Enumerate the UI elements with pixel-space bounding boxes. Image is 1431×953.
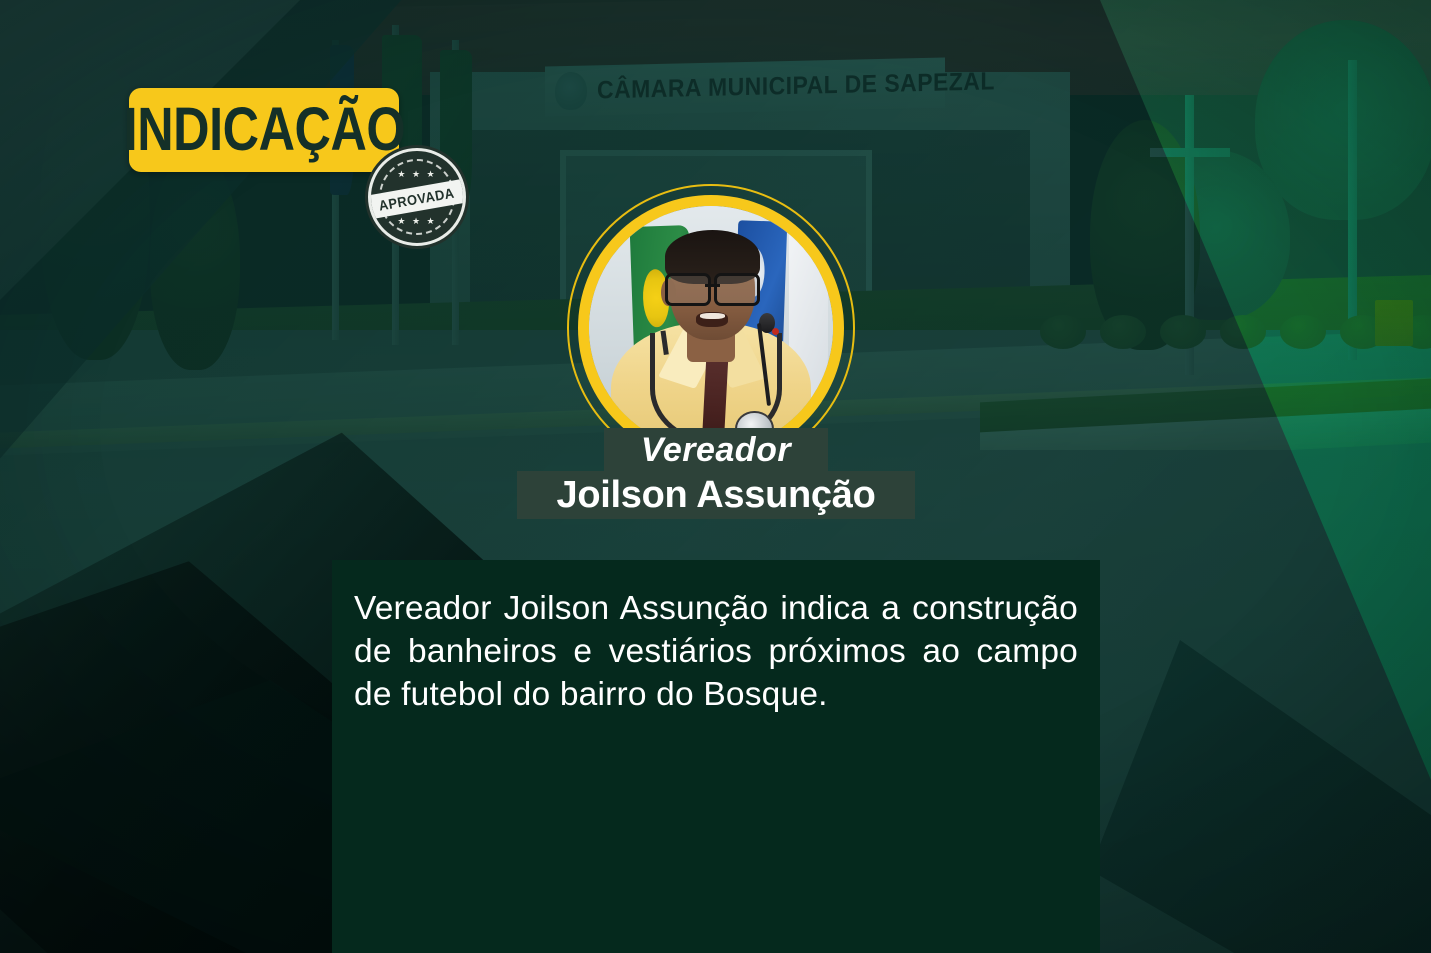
indicacao-badge: INDICAÇÃO xyxy=(129,88,399,172)
poster-canvas: CÂMARA MUNICIPAL DE SAPEZAL xyxy=(0,0,1431,953)
portrait-mouth xyxy=(696,312,728,327)
microphone-indicator-icon xyxy=(772,328,779,335)
name-bar: Joilson Assunção xyxy=(517,471,915,519)
eyeglass-bridge xyxy=(705,284,720,287)
portrait-photo xyxy=(589,206,833,450)
eyeglass-lens-left xyxy=(665,273,711,306)
description-text: Vereador Joilson Assunção indica a const… xyxy=(354,588,1078,717)
role-bar: Vereador xyxy=(604,428,828,471)
indicacao-badge-label: INDICAÇÃO xyxy=(123,98,405,162)
role-label: Vereador xyxy=(641,433,791,467)
aprovada-stamp-label: APROVADA xyxy=(378,184,456,213)
description-panel: Vereador Joilson Assunção indica a const… xyxy=(332,560,1100,953)
aprovada-stamp: ★ ★ ★ ★ ★ ★ APROVADA xyxy=(368,148,466,246)
stamp-ribbon: APROVADA xyxy=(368,177,466,220)
eyeglasses-icon xyxy=(665,273,760,300)
eyeglass-lens-right xyxy=(714,273,760,306)
stamp-stars-bottom: ★ ★ ★ xyxy=(371,216,463,227)
councilman-name: Joilson Assunção xyxy=(557,476,876,514)
stamp-stars-top: ★ ★ ★ xyxy=(371,169,463,180)
